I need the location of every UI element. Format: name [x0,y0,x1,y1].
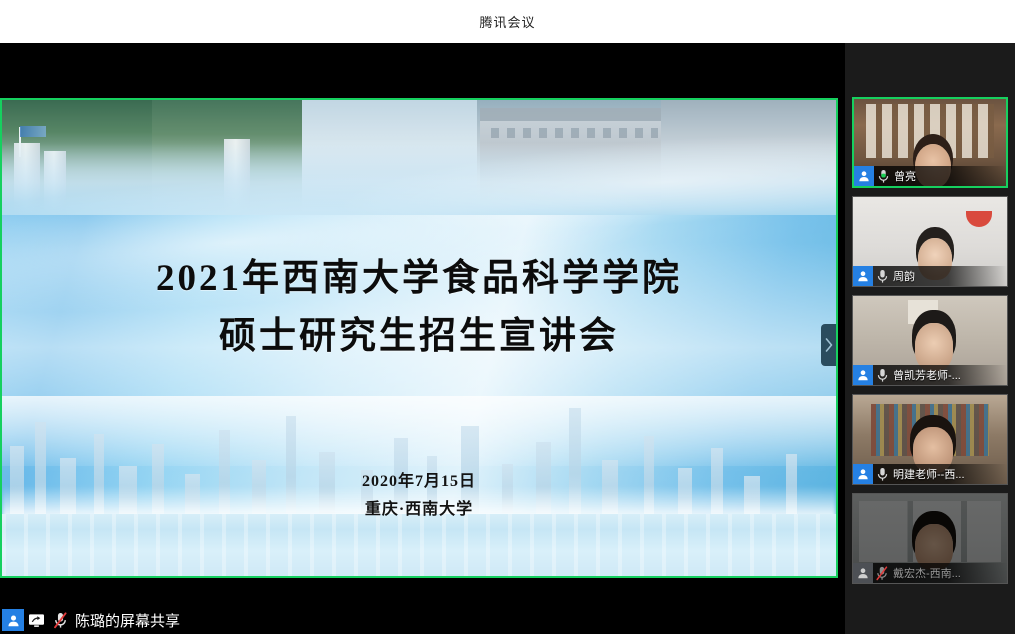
participant-name: 明建老师--西... [891,466,965,482]
participant-tile[interactable]: 明建老师--西... [852,394,1008,485]
mic-on-icon [873,365,891,385]
participant-video-panel[interactable]: 曾亮 周韵 [845,43,1015,634]
chevron-right-icon [825,338,833,352]
participant-namebar: 曾凯芳老师-... [853,365,1007,385]
window-titlebar: 腾讯会议 [0,0,1015,43]
mic-muted-icon [48,609,72,631]
person-avatar-icon [853,464,873,484]
building-windows [491,128,658,138]
slide-title-line-1: 2021年西南大学食品科学学院 [2,250,836,308]
person-avatar-icon [2,609,24,631]
person-avatar-icon [854,166,874,186]
participant-namebar: 戴宏杰-西南... [853,563,1007,583]
slide-location: 重庆·西南大学 [2,496,836,524]
participant-tile[interactable]: 曾亮 [852,97,1008,188]
shared-screen-frame[interactable]: 2021年西南大学食品科学学院 硕士研究生招生宣讲会 2020年7月15日 重庆… [0,98,838,578]
window-title: 腾讯会议 [479,12,535,31]
shared-screen-region: 2021年西南大学食品科学学院 硕士研究生招生宣讲会 2020年7月15日 重庆… [0,43,845,606]
slide-date: 2020年7月15日 [2,468,836,496]
participant-tile[interactable]: 戴宏杰-西南... [852,493,1008,584]
participant-tile[interactable]: 曾凯芳老师-... [852,295,1008,386]
participant-tile[interactable]: 周韵 [852,196,1008,287]
participant-name: 曾凯芳老师-... [891,367,961,383]
flag [20,126,46,137]
mic-on-icon [873,266,891,286]
slide-subtitle: 2020年7月15日 重庆·西南大学 [2,468,836,524]
slide-photo-strip [2,100,836,215]
mic-on-icon [873,464,891,484]
participant-name: 曾亮 [892,168,916,184]
screen-share-status-bar: 陈璐的屏幕共享 [0,606,845,634]
person-avatar-icon [853,266,873,286]
mic-active-icon [874,166,892,186]
slide-title: 2021年西南大学食品科学学院 硕士研究生招生宣讲会 [2,250,836,366]
person-avatar-icon [853,563,873,583]
participant-name: 周韵 [891,268,915,284]
slide-title-line-2: 硕士研究生招生宣讲会 [2,308,836,366]
screen-share-icon [24,609,48,631]
panel-collapse-button[interactable] [821,324,837,366]
person-avatar-icon [853,365,873,385]
photo-fade-overlay [2,143,836,215]
participant-namebar: 周韵 [853,266,1007,286]
tencent-meeting-window: 腾讯会议 [0,0,1015,634]
participant-namebar: 曾亮 [854,166,1006,186]
screen-share-label: 陈璐的屏幕共享 [72,610,180,631]
building-roof [480,108,670,121]
presentation-slide: 2021年西南大学食品科学学院 硕士研究生招生宣讲会 2020年7月15日 重庆… [2,100,836,576]
participant-name: 戴宏杰-西南... [891,565,961,581]
mic-muted-icon [873,563,891,583]
participant-namebar: 明建老师--西... [853,464,1007,484]
